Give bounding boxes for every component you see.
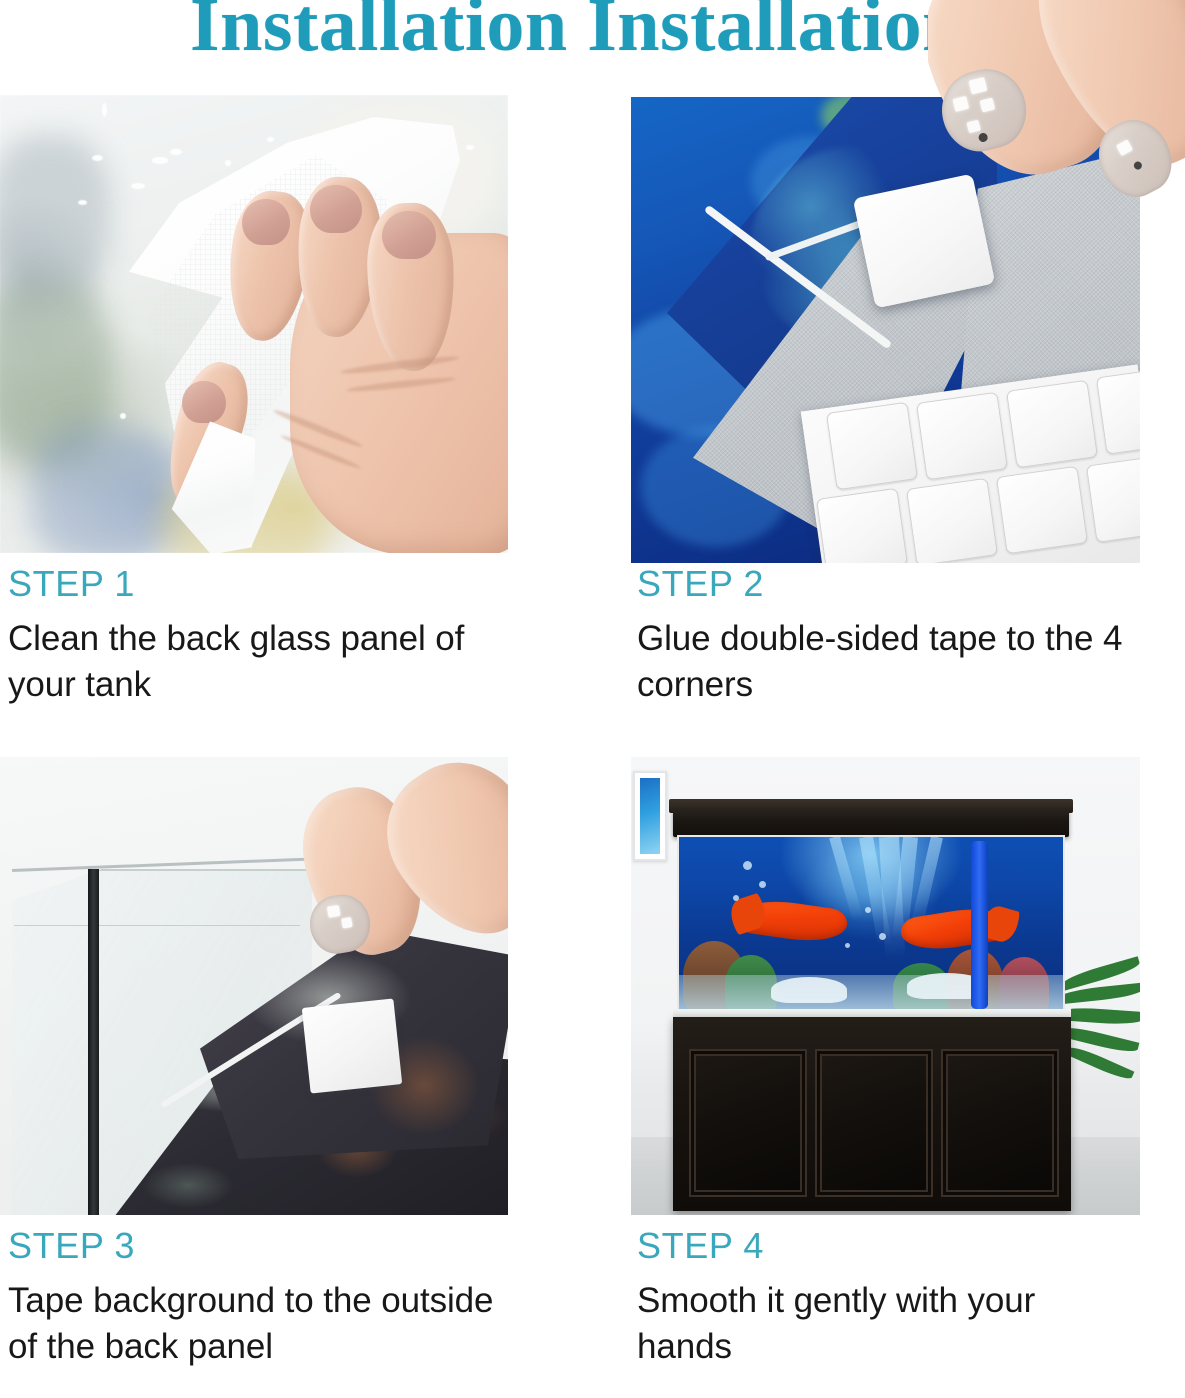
fingernail xyxy=(242,199,290,245)
step-4-text: Smooth it gently with your hands xyxy=(637,1278,1132,1369)
step-3-label: STEP 3 xyxy=(8,1228,528,1264)
tank-corner-frame xyxy=(88,869,99,1215)
water-droplet xyxy=(131,183,145,189)
cabinet-door xyxy=(815,1049,933,1197)
installation-instructions-page: Installation Installations xyxy=(0,0,1185,1398)
adhesive-pad xyxy=(1086,457,1140,543)
aquarium-heater xyxy=(971,841,988,1009)
hand-placing-tape xyxy=(928,0,1185,270)
adhesive-pad xyxy=(1006,380,1098,469)
fingernail xyxy=(182,381,226,423)
step-4-image xyxy=(631,757,1140,1215)
step-1-image xyxy=(0,95,508,553)
step-3-caption: STEP 3 Tape background to the outside of… xyxy=(8,1228,528,1369)
step-3-image xyxy=(0,757,508,1215)
bubble xyxy=(865,907,871,913)
water-droplet xyxy=(120,413,126,419)
adhesive-pad xyxy=(916,392,1008,481)
fingernail xyxy=(382,211,436,259)
water-droplet xyxy=(466,145,474,150)
wall-picture-frame xyxy=(633,771,667,861)
water-droplet xyxy=(92,155,103,161)
water-droplet xyxy=(170,149,182,155)
nail-rhinestone xyxy=(952,96,969,112)
adhesive-pad xyxy=(996,466,1088,555)
bubble xyxy=(759,881,766,888)
tank-water-line xyxy=(14,925,300,926)
water-droplet xyxy=(225,160,231,166)
substrate-sand xyxy=(679,975,1063,1009)
water-droplet xyxy=(102,103,107,117)
cabinet-door xyxy=(941,1049,1059,1197)
rock-decor xyxy=(771,977,847,1003)
aquarium-tank-water xyxy=(677,835,1065,1011)
water-droplet xyxy=(267,137,274,142)
step-1-label: STEP 1 xyxy=(8,566,528,602)
step-2-label: STEP 2 xyxy=(637,566,1157,602)
cabinet-door xyxy=(689,1049,807,1197)
step-2-caption: STEP 2 Glue double-sided tape to the 4 c… xyxy=(637,566,1157,707)
nail-dot xyxy=(978,132,989,143)
aquarium-hood xyxy=(673,809,1069,837)
adhesive-pad xyxy=(906,478,998,563)
nail-dot xyxy=(1132,160,1143,171)
nail-rhinestone xyxy=(980,98,996,113)
step-1-caption: STEP 1 Clean the back glass panel of you… xyxy=(8,566,528,707)
nail-rhinestone xyxy=(967,120,981,134)
bubble xyxy=(743,861,752,870)
adhesive-square xyxy=(302,998,402,1093)
nail-rhinestone xyxy=(341,917,353,929)
step-4-label: STEP 4 xyxy=(637,1228,1157,1264)
water-droplet xyxy=(78,200,87,205)
bubble xyxy=(845,943,850,948)
nail-rhinestone xyxy=(1116,139,1133,156)
step-2-text: Glue double-sided tape to the 4 corners xyxy=(637,616,1132,707)
step-1-text: Clean the back glass panel of your tank xyxy=(8,616,513,707)
water-droplet xyxy=(152,157,168,164)
fingernail xyxy=(310,185,362,233)
adhesive-pad xyxy=(816,488,908,563)
wall-picture-image xyxy=(640,778,660,854)
hand-holding-poster xyxy=(290,771,508,971)
bubble xyxy=(733,895,739,901)
step-3-text: Tape background to the outside of the ba… xyxy=(8,1278,513,1369)
bubble xyxy=(879,933,886,940)
nail-rhinestone xyxy=(327,905,341,918)
nail-rhinestone xyxy=(968,77,987,94)
adhesive-pad xyxy=(826,402,918,491)
step-4-caption: STEP 4 Smooth it gently with your hands xyxy=(637,1228,1157,1369)
